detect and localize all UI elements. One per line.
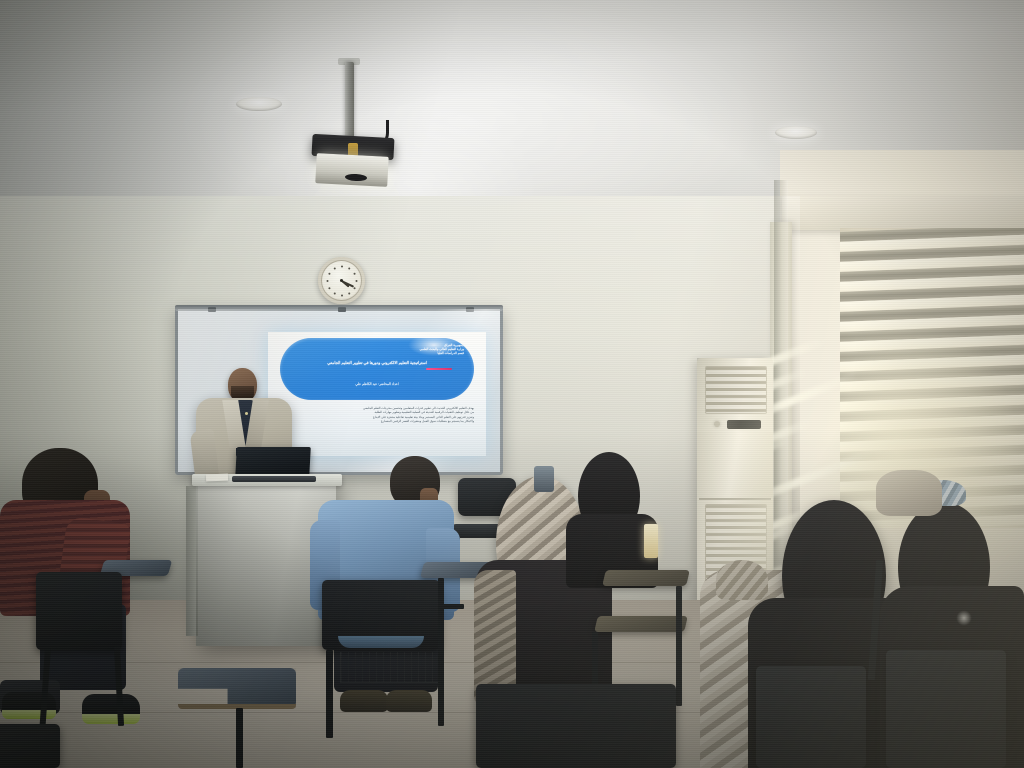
ac-display-panel[interactable] (727, 420, 761, 429)
whiteboard-clip (466, 307, 474, 312)
chair-seat-cushion (338, 636, 424, 648)
classroom-scene: جمهورية العراق وزارة التعليم العالي والب… (0, 0, 1024, 768)
student-center-shoe-right (386, 690, 432, 712)
chair-leg-brace (442, 604, 464, 609)
ac-top-grille-icon (705, 366, 767, 414)
chair-leg (676, 586, 682, 706)
clock-hour-mark (333, 292, 335, 294)
clock-center-pin (340, 279, 343, 282)
projected-slide: جمهورية العراق وزارة التعليم العالي والب… (268, 332, 486, 456)
ac-front-panel (697, 432, 773, 498)
right-wall-soffit (782, 196, 1024, 230)
podium-papers (206, 474, 228, 482)
chair-backrest (756, 666, 866, 768)
clock-hour-mark (353, 287, 355, 289)
clock-hour-mark (326, 280, 328, 282)
chair-leg (236, 708, 243, 768)
chair-backrest (886, 650, 1006, 768)
slide-body-line-4: والابتكار بما ينسجم مع متطلبات سوق العمل… (282, 419, 474, 423)
clock-hour-mark (353, 272, 355, 274)
student-left-shoe-sole (2, 710, 56, 719)
bow-emblem-icon (956, 610, 972, 626)
chair-leg (326, 650, 333, 738)
slide-header-line-3: قسم الدراسات العليا (420, 352, 464, 356)
slide-author: اعداد المحاضر: عبد الكاظم علي (288, 382, 466, 386)
clock-hour-mark (328, 287, 330, 289)
slide-blue-banner: جمهورية العراق وزارة التعليم العالي والب… (280, 338, 474, 400)
slide-header-block: جمهورية العراق وزارة التعليم العالي والب… (420, 344, 464, 356)
clock-hour-mark (348, 292, 350, 294)
wall-clock (318, 257, 365, 304)
clock-hour-mark (341, 294, 343, 296)
phone-device[interactable] (534, 466, 554, 492)
chair-writing-tablet (594, 616, 688, 632)
lecturer-lapel-pin-icon (245, 412, 248, 415)
slide-title: استراتيجية التعليم الالكتروني ودورها في … (288, 360, 466, 365)
projector-drop-pole (345, 62, 354, 140)
clock-hour-mark (341, 265, 343, 267)
recessed-downlight-right (775, 126, 817, 139)
ac-status-led-icon (714, 421, 720, 427)
student-patterned-coat-hood (716, 560, 768, 600)
recessed-downlight-left (236, 97, 282, 111)
desk-lit-paper (644, 524, 658, 558)
clock-hour-mark (348, 267, 350, 269)
chair-backrest (0, 724, 60, 768)
clock-hour-mark (355, 280, 357, 282)
chair-backrest (36, 572, 122, 650)
ac-panel-seam (699, 498, 771, 500)
chair-leg (438, 578, 444, 726)
projector-lens-housing (315, 153, 388, 187)
whiteboard-clip (338, 307, 346, 312)
laptop-keyboard-base[interactable] (232, 476, 316, 482)
chair-backrest (476, 684, 676, 768)
student-far-right-headscarf (876, 470, 942, 516)
clock-hour-mark (328, 272, 330, 274)
clock-hour-mark (333, 267, 335, 269)
chair-writing-tablet (602, 570, 690, 586)
slide-body-text: يهدف التعليم الالكتروني الحديث الى تطوير… (282, 406, 474, 424)
whiteboard-clip (208, 307, 216, 312)
student-center-shoe-left (340, 690, 388, 712)
student-left-shoe-2-sole (82, 714, 140, 724)
chair-book-basket (340, 652, 442, 683)
slide-accent-underline (426, 368, 452, 370)
